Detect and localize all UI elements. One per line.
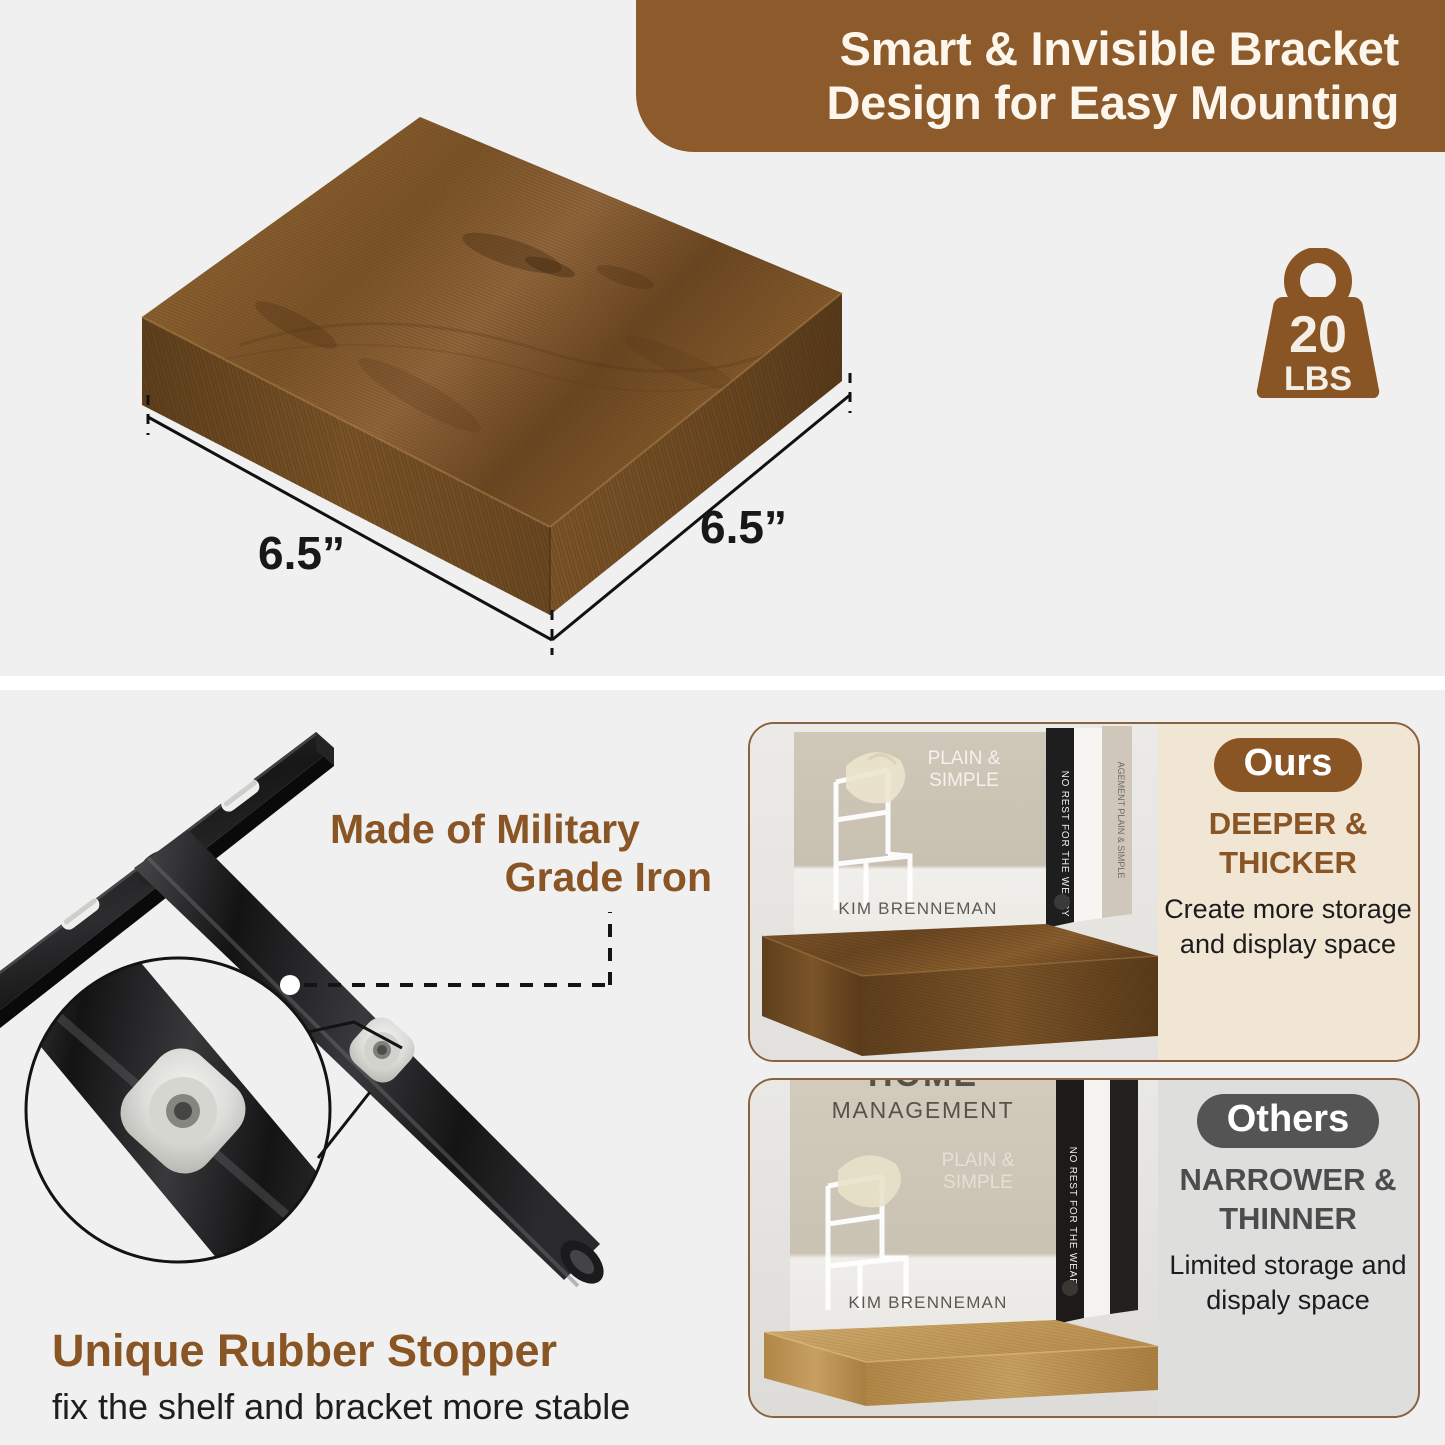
book-title-line-2: SIMPLE [929,770,999,791]
iron-line-2: Grade Iron [330,854,712,902]
book-author: KIM BRENNEMAN [848,1293,1007,1312]
header-line-1: Smart & Invisible Bracket [840,22,1399,76]
header-line-2: Design for Easy Mounting [827,76,1400,130]
wood-shelf-board [120,95,910,655]
section-divider [0,676,1445,690]
body-others: Limited storage and dispaly space [1163,1248,1413,1318]
stopper-subtitle: fix the shelf and bracket more stable [52,1385,752,1428]
stopper-title: Unique Rubber Stopper [52,1326,752,1376]
weight-icon: 20 LBS [1243,248,1393,398]
headline-ours-line-2: THICKER [1209,843,1367,882]
weight-unit: LBS [1284,360,1352,398]
book-title-line-2: SIMPLE [943,1172,1013,1193]
shelf-with-books-photo-ours: PLAIN & SIMPLE KIM BRENNEMAN NO REST FOR… [750,724,1158,1060]
badge-ours: Ours [1214,738,1363,792]
headline-ours: DEEPER & THICKER [1209,804,1367,883]
t-bracket-icon [0,700,622,1300]
badge-others: Others [1197,1094,1379,1148]
book-title-sub: MANAGEMENT [832,1097,1015,1123]
headline-others-line-2: THINNER [1180,1199,1397,1238]
book-title-top: HOME [868,1080,978,1094]
book-author: KIM BRENNEMAN [838,899,997,918]
book-spine-text: NO REST FOR THE WEARY [1067,1147,1078,1294]
svg-text:AGEMENT PLAIN & SIMPLE: AGEMENT PLAIN & SIMPLE [1116,762,1126,879]
dimension-label-depth: 6.5” [700,500,787,554]
leader-anchor-dot [280,975,300,995]
body-ours: Create more storage and display space [1163,892,1413,962]
comparison-panel-others: HOME MANAGEMENT PLAIN & SIMPLE KIM BRENN… [748,1078,1420,1418]
header-banner: Smart & Invisible Bracket Design for Eas… [636,0,1445,152]
comparison-info-others: Others NARROWER & THINNER Limited storag… [1158,1080,1418,1416]
headline-others: NARROWER & THINNER [1180,1160,1397,1239]
shelf-with-books-photo-others: HOME MANAGEMENT PLAIN & SIMPLE KIM BRENN… [750,1080,1158,1416]
product-infographic: 6.5” 6.5” 20 LBS Smart & Invisible Brack… [0,0,1445,1445]
weight-value: 20 [1289,306,1347,364]
dashed-leader-line [304,912,612,985]
comparison-info-ours: Ours DEEPER & THICKER Create more storag… [1158,724,1418,1060]
military-iron-label: Made of Military Grade Iron [330,806,712,902]
book-title-line-1: PLAIN & [942,1150,1015,1171]
headline-ours-line-1: DEEPER & [1209,804,1367,843]
dimension-label-width: 6.5” [258,526,345,580]
book-title-line-1: PLAIN & [928,748,1001,769]
rubber-stopper-label: Unique Rubber Stopper fix the shelf and … [52,1326,752,1428]
headline-others-line-1: NARROWER & [1180,1160,1397,1199]
comparison-panel-ours: PLAIN & SIMPLE KIM BRENNEMAN NO REST FOR… [748,722,1420,1062]
iron-line-1: Made of Military [330,806,712,854]
